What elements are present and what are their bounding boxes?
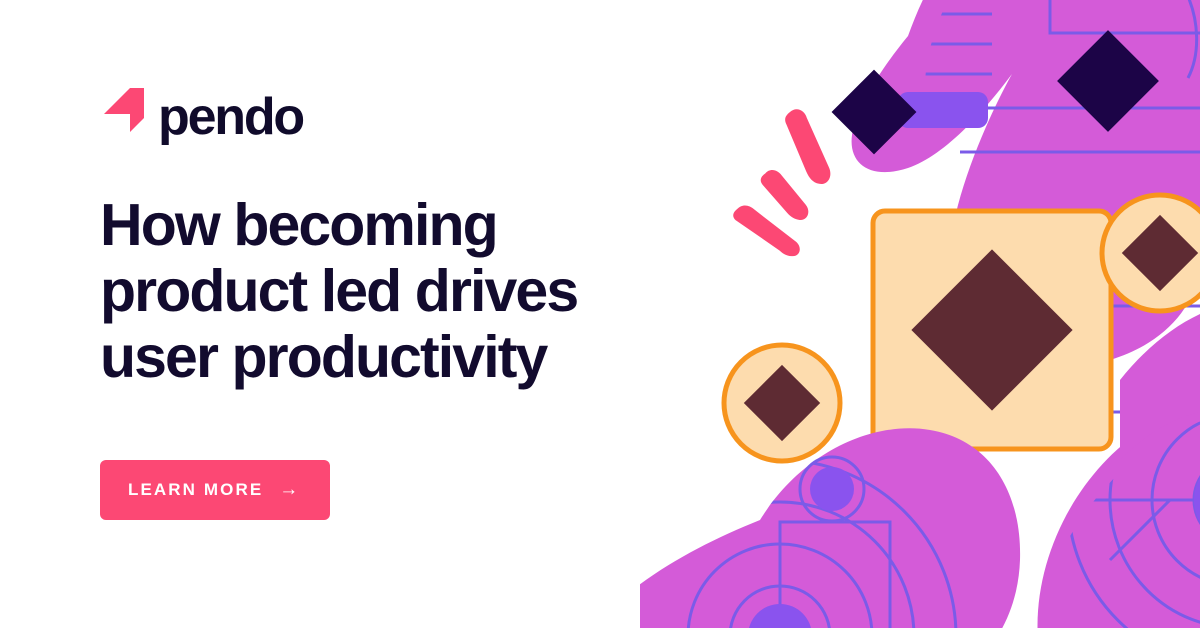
marketing-banner: pendo How becoming product led drives us… [0,0,1200,628]
peach-circle-right-group [1102,195,1200,311]
learn-more-button[interactable]: LEARN MORE → [100,460,330,520]
magenta-blob-bottom-right [1037,300,1200,628]
pink-motion-stroke-2 [760,168,809,223]
purple-rounded-rect [898,92,988,128]
peach-circle-right [1102,195,1200,311]
magenta-blob-top-right [852,0,1200,412]
navy-diamond-lower-left [761,481,849,569]
pink-motion-stroke-1 [784,106,832,188]
peach-circle-left-group [724,345,840,461]
purple-dot-small-group [800,457,864,521]
pendo-arrow-icon [100,88,146,145]
navy-diamond-top-right-corner [1057,30,1159,132]
pink-motion-strokes [733,106,832,258]
peach-rounded-square-group [873,211,1111,449]
concentric-rings-bottom-right [1068,330,1200,628]
content-area: pendo How becoming product led drives us… [100,0,700,628]
purple-detail-lines-top [940,0,1200,412]
learn-more-label: LEARN MORE [128,480,263,500]
navy-diamond-upper [832,70,917,155]
purple-dot-bottom-left [748,604,812,628]
maroon-diamond-in-square [911,249,1072,410]
peach-circle-left [724,345,840,461]
purple-dot-bottom-right [1194,456,1200,544]
maroon-diamond-in-circle-right [1122,215,1198,291]
peach-rounded-square [873,211,1111,449]
page-title: How becoming product led drives user pro… [100,192,680,390]
decorative-artwork [640,0,1200,628]
purple-dot-small [810,467,854,511]
pendo-logo[interactable]: pendo [100,88,303,145]
maroon-diamond-in-circle-left [744,365,820,441]
arrow-right-icon: → [279,480,300,499]
pendo-wordmark: pendo [158,91,303,143]
pink-motion-stroke-3 [733,204,800,259]
